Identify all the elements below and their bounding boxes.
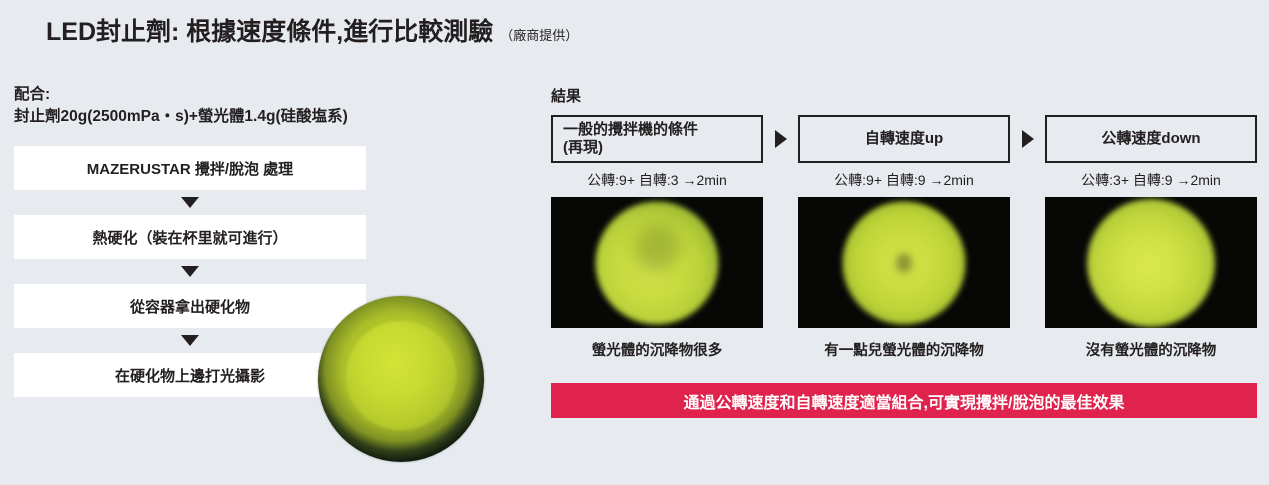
flow-step-1-label: MAZERUSTAR 攪拌/脫泡 處理 bbox=[87, 158, 293, 179]
caption-spacer bbox=[763, 339, 798, 360]
spec-2: 公轉:9+ 自轉:9 →2min bbox=[798, 170, 1010, 190]
triangle-down-icon bbox=[181, 335, 199, 346]
flow-step-2-label: 熱硬化（裝在杯里就可進行） bbox=[92, 227, 287, 248]
sample-photo-3-glow bbox=[1087, 199, 1215, 327]
condition-box-1: 一般的攪拌機的條件 (再現) bbox=[551, 115, 763, 163]
page-title-subtitle: （廠商提供） bbox=[500, 25, 578, 44]
spec-spacer bbox=[1010, 170, 1045, 190]
flow-step-3: 從容器拿出硬化物 bbox=[14, 284, 366, 328]
caption-1: 螢光體的沉降物很多 bbox=[551, 339, 763, 360]
caption-spacer bbox=[1010, 339, 1045, 360]
sample-photo-2-sediment bbox=[896, 253, 912, 273]
flow-step-1: MAZERUSTAR 攪拌/脫泡 處理 bbox=[14, 146, 366, 190]
flow-arrow-right-1 bbox=[763, 115, 798, 163]
mixture-formula: 封止劑20g(2500mPa・s)+螢光體1.4g(硅酸塩系) bbox=[14, 106, 504, 128]
caption-3: 沒有螢光體的沉降物 bbox=[1045, 339, 1257, 360]
sample-photo-3 bbox=[1045, 197, 1257, 328]
condition-box-1-line1: 一般的攪拌機的條件 bbox=[563, 121, 698, 139]
flow-step-4-label: 在硬化物上邊打光攝影 bbox=[115, 365, 265, 386]
flow-step-4: 在硬化物上邊打光攝影 bbox=[14, 353, 366, 397]
cured-sample-disc-photo bbox=[318, 296, 484, 462]
right-column: 結果 一般的攪拌機的條件 (再現) 自轉速度up 公轉速度down 公轉:9+ … bbox=[551, 85, 1257, 418]
condition-box-1-line2: (再現) bbox=[563, 139, 603, 157]
photo-row bbox=[551, 197, 1257, 328]
flow-arrow-3 bbox=[14, 328, 366, 353]
conclusion-banner: 通過公轉速度和自轉速度適當組合,可實現攪拌/脫泡的最佳效果 bbox=[551, 383, 1257, 418]
triangle-down-icon bbox=[181, 266, 199, 277]
flow-arrow-1 bbox=[14, 190, 366, 215]
spec-3: 公轉:3+ 自轉:9 →2min bbox=[1045, 170, 1257, 190]
page-title-main: LED封止劑: 根據速度條件,進行比較測驗 bbox=[46, 12, 493, 48]
condition-box-3-label: 公轉速度down bbox=[1101, 130, 1200, 148]
triangle-right-icon bbox=[1022, 130, 1034, 148]
triangle-down-icon bbox=[181, 197, 199, 208]
result-section-label: 結果 bbox=[551, 85, 1257, 106]
triangle-right-icon bbox=[775, 130, 787, 148]
sample-photo-1 bbox=[551, 197, 763, 328]
photo-spacer bbox=[763, 197, 798, 328]
condition-boxes-row: 一般的攪拌機的條件 (再現) 自轉速度up 公轉速度down bbox=[551, 115, 1257, 163]
caption-row: 螢光體的沉降物很多 有一點兒螢光體的沉降物 沒有螢光體的沉降物 bbox=[551, 339, 1257, 360]
sample-photo-2 bbox=[798, 197, 1010, 328]
flow-step-2: 熱硬化（裝在杯里就可進行） bbox=[14, 215, 366, 259]
photo-spacer bbox=[1010, 197, 1045, 328]
spec-1: 公轉:9+ 自轉:3 →2min bbox=[551, 170, 763, 190]
condition-box-2-label: 自轉速度up bbox=[865, 130, 943, 148]
spec-row: 公轉:9+ 自轉:3 →2min 公轉:9+ 自轉:9 →2min 公轉:3+ … bbox=[551, 170, 1257, 190]
flow-arrow-right-2 bbox=[1010, 115, 1045, 163]
condition-box-2: 自轉速度up bbox=[798, 115, 1010, 163]
flow-step-3-label: 從容器拿出硬化物 bbox=[130, 296, 250, 317]
page-title: LED封止劑: 根據速度條件,進行比較測驗 （廠商提供） bbox=[46, 12, 578, 48]
spec-spacer bbox=[763, 170, 798, 190]
condition-box-3: 公轉速度down bbox=[1045, 115, 1257, 163]
caption-2: 有一點兒螢光體的沉降物 bbox=[798, 339, 1010, 360]
mixture-label: 配合: bbox=[14, 84, 504, 106]
process-flowchart: MAZERUSTAR 攪拌/脫泡 處理 熱硬化（裝在杯里就可進行） 從容器拿出硬… bbox=[14, 146, 366, 397]
flow-arrow-2 bbox=[14, 259, 366, 284]
sample-photo-1-sediment bbox=[634, 224, 680, 270]
